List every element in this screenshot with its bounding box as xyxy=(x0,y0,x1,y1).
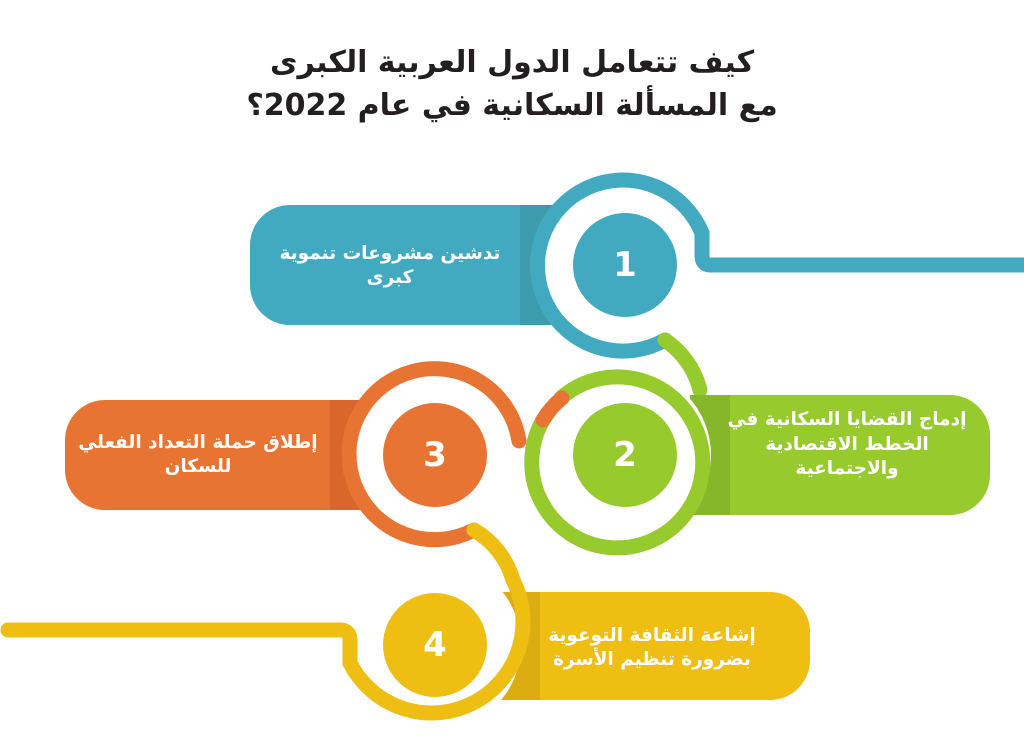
step-3-number: 3 xyxy=(405,435,465,475)
process-diagram-graphic xyxy=(0,0,1024,746)
step-4-label: إشاعة الثقافة التوعوية بضرورة تنظيم الأس… xyxy=(524,596,786,700)
step-2-label: إدماج القضايا السكانية في الخطط الاقتصاد… xyxy=(722,386,980,504)
step-2-number: 2 xyxy=(595,435,655,475)
infographic-canvas: كيف تتعامل الدول العربية الكبرى مع المسأ… xyxy=(0,0,1024,746)
step-3-label: إطلاق حملة التعداد الفعلي للسكان xyxy=(70,400,322,510)
step-4-tail xyxy=(8,630,350,663)
step-1-number: 1 xyxy=(595,245,655,285)
step-4-number: 4 xyxy=(405,625,465,665)
step-1-label: تدشين مشروعات تنموية كبرى xyxy=(262,208,512,324)
step-1-tail xyxy=(702,233,1024,265)
